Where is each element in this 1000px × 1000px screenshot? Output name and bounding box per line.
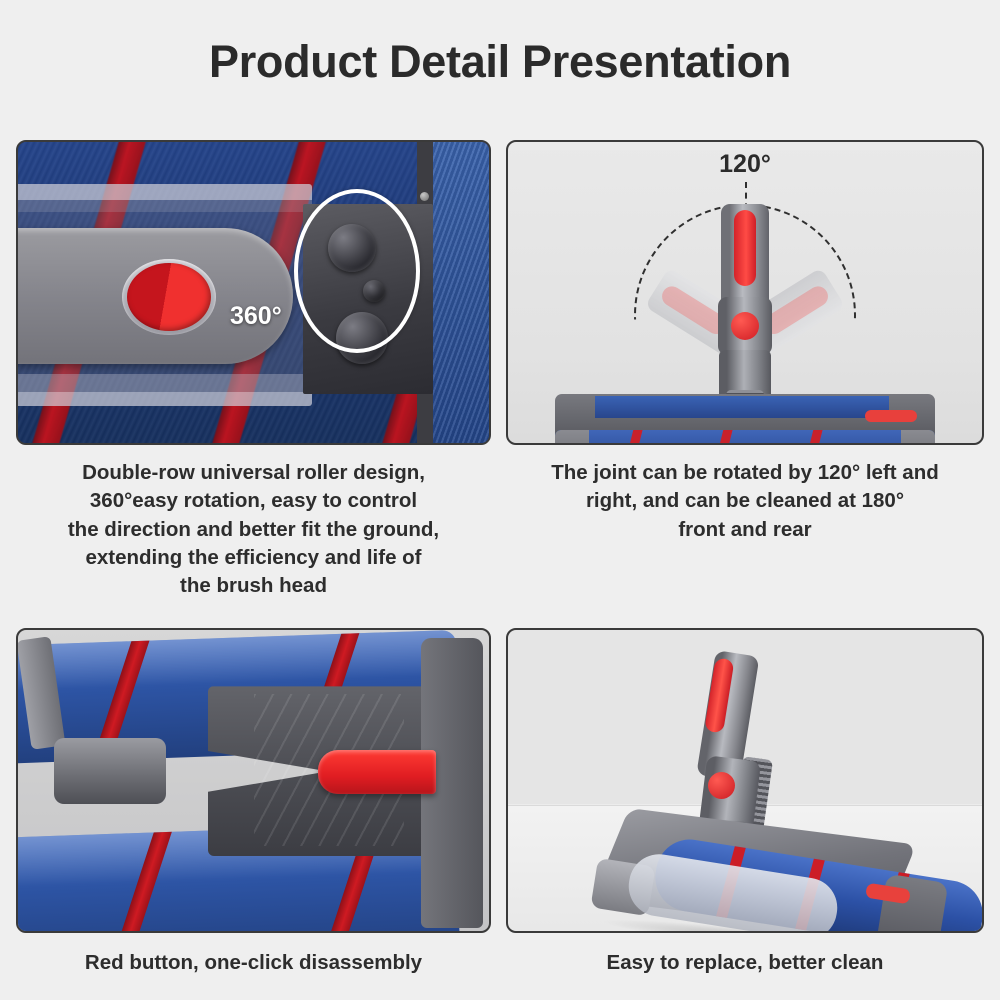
- panel-image-joint-120[interactable]: 120°: [506, 140, 984, 445]
- cell-red-release-button: Red button, one-click disassembly: [0, 628, 500, 977]
- caption-roller-360: Double-row universal roller design, 360°…: [16, 445, 491, 600]
- degree-label-360: 360°: [230, 302, 282, 331]
- screw-icon: [420, 192, 429, 201]
- cell-joint-120: 120°: [500, 140, 1000, 600]
- page-title: Product Detail Presentation: [0, 0, 1000, 85]
- head-blue-inset: [595, 396, 889, 418]
- roller-gloss: [16, 630, 457, 691]
- roller-end-cap: [901, 430, 935, 445]
- panel-image-full-brush-head[interactable]: [506, 628, 984, 933]
- roller-red-stripe: [614, 430, 644, 445]
- panel-image-red-release-button[interactable]: [16, 628, 491, 933]
- degree-label-120: 120°: [508, 150, 982, 179]
- roller-red-stripe: [704, 430, 734, 445]
- caption-full-brush-head: Easy to replace, better clean: [506, 933, 984, 977]
- cell-full-brush-head: Easy to replace, better clean: [500, 628, 1000, 977]
- panel-grid: 360° Double-row universal roller design,…: [0, 140, 1000, 978]
- red-rotation-button[interactable]: [127, 263, 211, 331]
- panel-row-bottom: Red button, one-click disassembly: [0, 628, 1000, 977]
- roller-end-cap: [874, 874, 949, 933]
- panel-row-top: 360° Double-row universal roller design,…: [0, 140, 1000, 600]
- head-red-accent: [865, 410, 917, 422]
- roller-axle-hub: [54, 738, 166, 804]
- red-release-lever[interactable]: [318, 750, 436, 794]
- highlight-ellipse: [294, 189, 420, 353]
- roller-end-cap: [555, 430, 589, 445]
- caption-red-release-button: Red button, one-click disassembly: [16, 933, 491, 977]
- red-button-ring: [122, 259, 216, 335]
- joint-red-button[interactable]: [731, 312, 759, 340]
- blue-roller-brush: [555, 430, 935, 445]
- wand-red-accent: [734, 210, 756, 286]
- roller-red-stripe: [794, 430, 824, 445]
- cell-roller-360: 360° Double-row universal roller design,…: [0, 140, 500, 600]
- caption-joint-120: The joint can be rotated by 120° left an…: [506, 445, 984, 544]
- panel-image-roller-360[interactable]: 360°: [16, 140, 491, 445]
- roller-right-carpet: [433, 142, 489, 443]
